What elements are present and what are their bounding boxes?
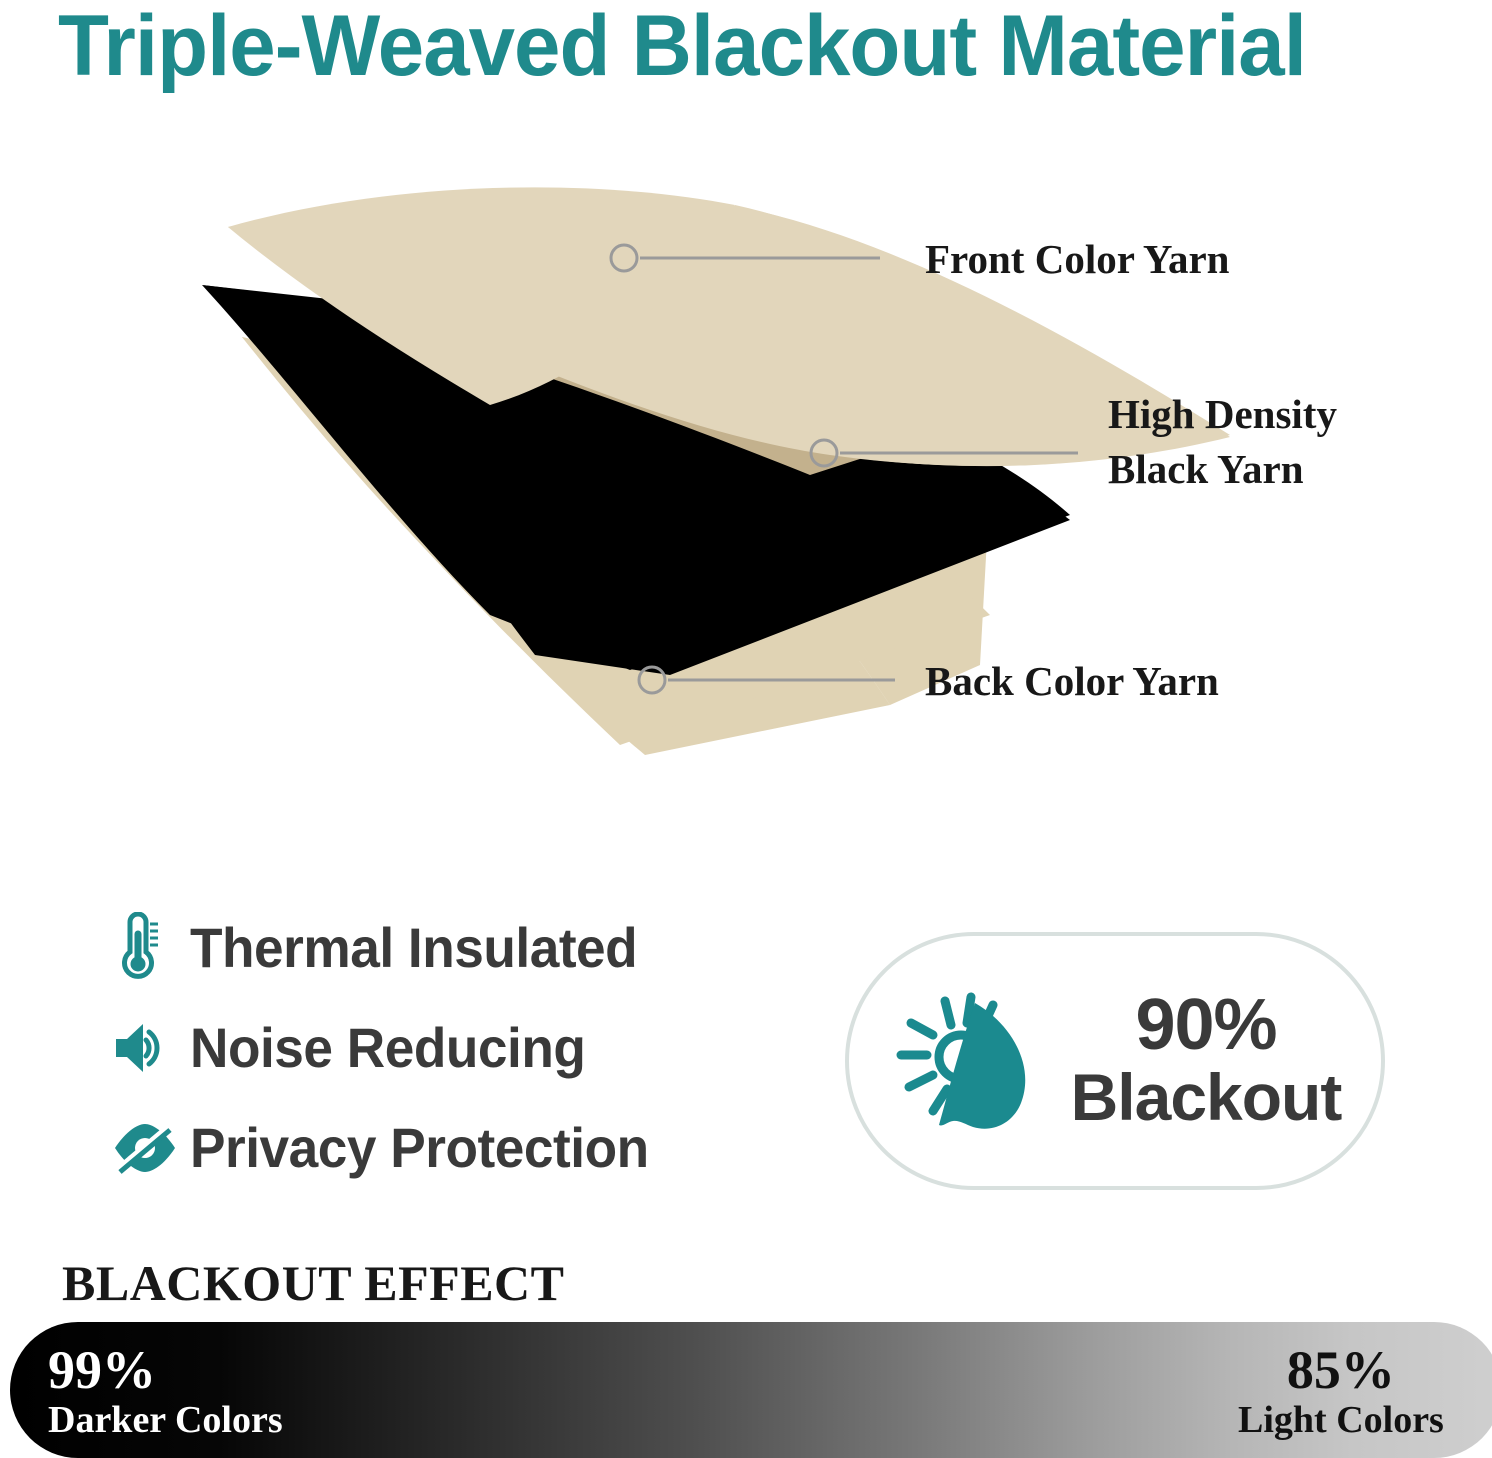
feature-item-noise-reducing: Noise Reducing: [112, 998, 812, 1098]
page-title: Triple-Weaved Blackout Material: [58, 0, 1416, 98]
feature-label: Noise Reducing: [190, 1019, 585, 1077]
light-colors-percent: 85%: [1238, 1342, 1444, 1398]
darker-colors-percent: 99%: [48, 1342, 283, 1398]
blackout-percentage-badge: 90% Blackout: [845, 932, 1385, 1190]
gradient-bar-right-stat: 85% Light Colors: [1238, 1342, 1444, 1442]
callout-middle-label-line2: Black Yarn: [1108, 446, 1304, 492]
speaker-sound-icon: [112, 1020, 190, 1076]
badge-word: Blackout: [1071, 1061, 1342, 1133]
feature-label: Thermal Insulated: [190, 919, 637, 977]
eye-off-icon: [112, 1122, 190, 1174]
badge-percent: 90%: [1135, 989, 1276, 1061]
sun-behind-curtain-icon: [889, 981, 1049, 1141]
thermometer-icon: [112, 912, 190, 984]
callout-middle-label-line1: High Density: [1108, 391, 1337, 437]
feature-label: Privacy Protection: [190, 1119, 649, 1177]
fabric-layers-diagram: Front Color Yarn High Density Black Yarn…: [190, 185, 1430, 755]
feature-item-thermal-insulated: Thermal Insulated: [112, 898, 812, 998]
feature-list: Thermal Insulated Noise Reducing Privacy…: [112, 898, 812, 1198]
callout-back-label: Back Color Yarn: [925, 658, 1219, 704]
darker-colors-caption: Darker Colors: [48, 1398, 283, 1442]
callout-front-label: Front Color Yarn: [925, 236, 1230, 282]
badge-text-group: 90% Blackout: [1071, 989, 1342, 1133]
gradient-bar-left-stat: 99% Darker Colors: [48, 1342, 283, 1442]
feature-item-privacy-protection: Privacy Protection: [112, 1098, 812, 1198]
light-colors-caption: Light Colors: [1238, 1398, 1444, 1442]
blackout-effect-heading: BLACKOUT EFFECT: [62, 1255, 565, 1311]
